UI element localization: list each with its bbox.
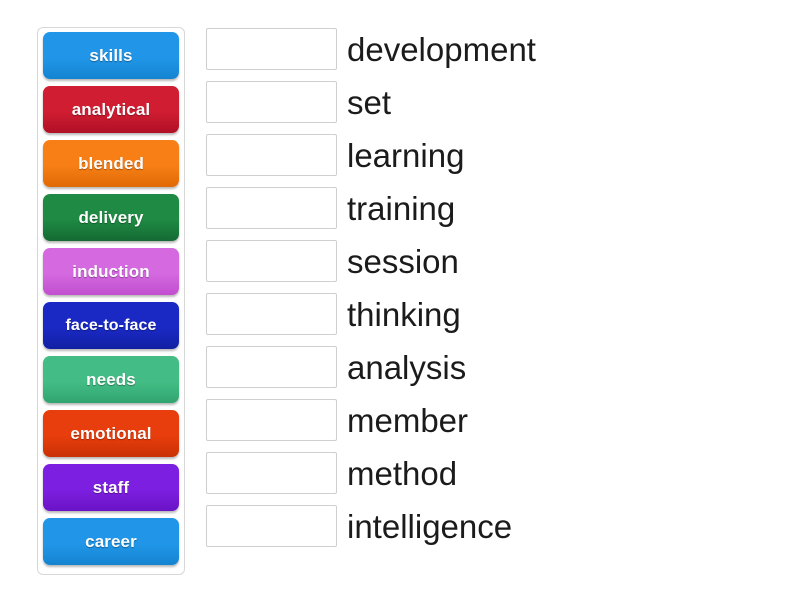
answer-row: intelligence bbox=[206, 505, 766, 547]
word-tile-needs[interactable]: needs bbox=[43, 356, 179, 403]
word-tile-label: analytical bbox=[72, 101, 151, 118]
answer-word: session bbox=[347, 245, 459, 278]
word-tile-label: career bbox=[85, 533, 137, 550]
answer-word: analysis bbox=[347, 351, 466, 384]
answer-drop-slot[interactable] bbox=[206, 28, 337, 70]
word-tile-career[interactable]: career bbox=[43, 518, 179, 565]
answer-drop-slot[interactable] bbox=[206, 399, 337, 441]
answer-row: session bbox=[206, 240, 766, 282]
word-tile-blended[interactable]: blended bbox=[43, 140, 179, 187]
answer-row: development bbox=[206, 28, 766, 70]
answer-drop-slot[interactable] bbox=[206, 187, 337, 229]
answer-word: training bbox=[347, 192, 455, 225]
answer-drop-slot[interactable] bbox=[206, 293, 337, 335]
answer-list: developmentsetlearningtrainingsessionthi… bbox=[206, 28, 766, 558]
word-tile-skills[interactable]: skills bbox=[43, 32, 179, 79]
word-tile-label: blended bbox=[78, 155, 144, 172]
word-tile-label: emotional bbox=[70, 425, 151, 442]
answer-word: set bbox=[347, 86, 391, 119]
word-tile-face-to-face[interactable]: face-to-face bbox=[43, 302, 179, 349]
word-tile-label: needs bbox=[86, 371, 136, 388]
answer-drop-slot[interactable] bbox=[206, 346, 337, 388]
answer-row: method bbox=[206, 452, 766, 494]
word-tile-emotional[interactable]: emotional bbox=[43, 410, 179, 457]
word-tile-induction[interactable]: induction bbox=[43, 248, 179, 295]
word-tile-label: skills bbox=[89, 47, 132, 64]
answer-word: development bbox=[347, 33, 536, 66]
word-tile-label: induction bbox=[72, 263, 149, 280]
word-tile-bank: skillsanalyticalblendeddeliveryinduction… bbox=[37, 27, 185, 575]
word-tile-label: face-to-face bbox=[65, 318, 156, 334]
word-tile-label: delivery bbox=[78, 209, 143, 226]
answer-drop-slot[interactable] bbox=[206, 505, 337, 547]
answer-word: member bbox=[347, 404, 468, 437]
answer-drop-slot[interactable] bbox=[206, 452, 337, 494]
answer-word: learning bbox=[347, 139, 464, 172]
answer-drop-slot[interactable] bbox=[206, 240, 337, 282]
word-tile-analytical[interactable]: analytical bbox=[43, 86, 179, 133]
answer-row: training bbox=[206, 187, 766, 229]
match-up-activity: skillsanalyticalblendeddeliveryinduction… bbox=[0, 0, 800, 600]
answer-word: intelligence bbox=[347, 510, 512, 543]
word-tile-delivery[interactable]: delivery bbox=[43, 194, 179, 241]
answer-row: thinking bbox=[206, 293, 766, 335]
answer-word: method bbox=[347, 457, 457, 490]
answer-row: learning bbox=[206, 134, 766, 176]
answer-row: member bbox=[206, 399, 766, 441]
word-tile-staff[interactable]: staff bbox=[43, 464, 179, 511]
answer-drop-slot[interactable] bbox=[206, 134, 337, 176]
answer-row: analysis bbox=[206, 346, 766, 388]
answer-row: set bbox=[206, 81, 766, 123]
answer-word: thinking bbox=[347, 298, 461, 331]
answer-drop-slot[interactable] bbox=[206, 81, 337, 123]
word-tile-label: staff bbox=[93, 479, 129, 496]
